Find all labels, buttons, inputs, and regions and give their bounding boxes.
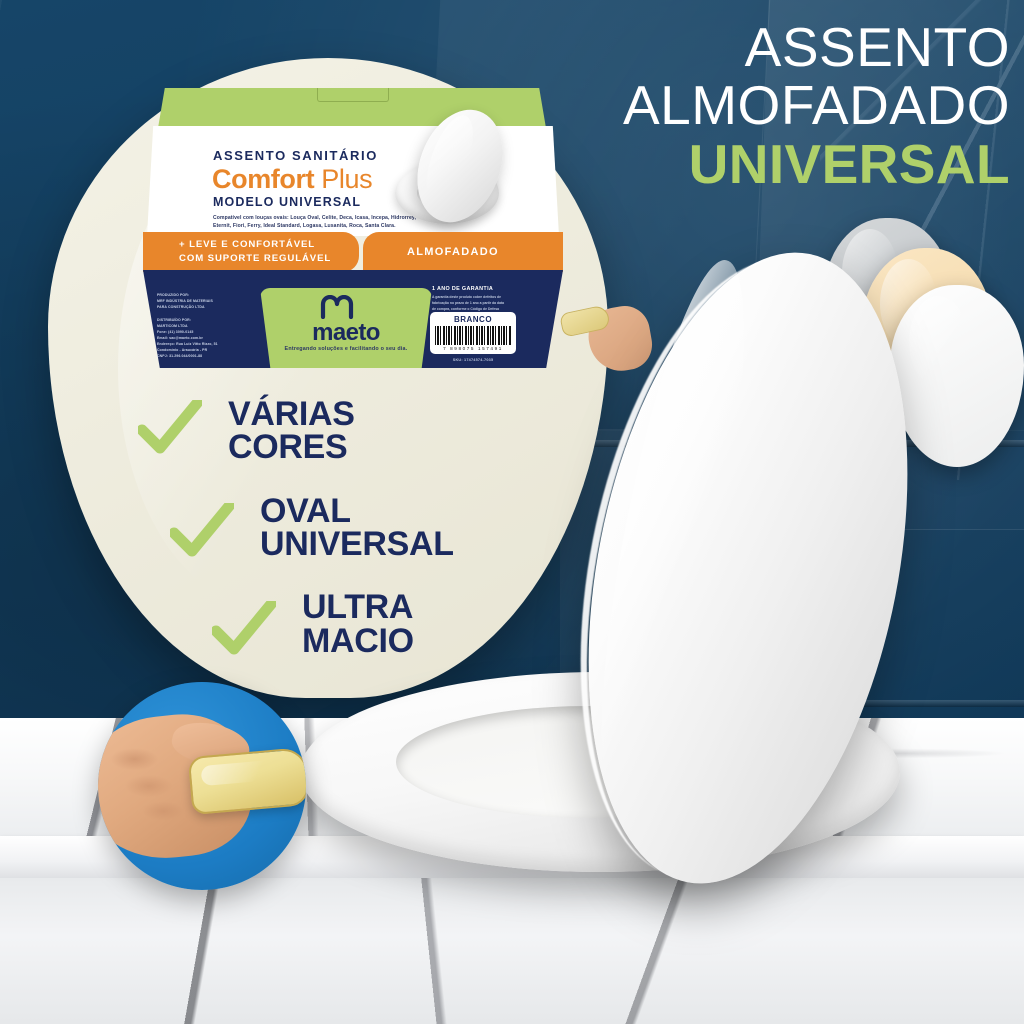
- headline-block: ASSENTO ALMOFADADO UNIVERSAL: [623, 18, 1010, 194]
- feature-line-1: VÁRIAS: [228, 398, 518, 431]
- label-brand-name: Comfort Plus: [212, 164, 372, 195]
- feature-item-oval-universal: OVAL UNIVERSAL: [138, 495, 518, 562]
- checkmark-icon: [212, 601, 276, 657]
- foam-padding-sample: [188, 747, 306, 815]
- feature-line-2: UNIVERSAL: [260, 528, 518, 561]
- counter-front-face: [0, 878, 1024, 1024]
- feature-item-varias-cores: VÁRIAS CORES: [138, 398, 518, 465]
- feature-line-2: CORES: [228, 431, 518, 464]
- label-sku-text: SKU: 17474574-7035: [430, 358, 516, 362]
- label-banner-left-text: + LEVE E CONFORTÁVEL COM SUPORTE REGULÁV…: [179, 238, 331, 266]
- feature-list: VÁRIAS CORES OVAL UNIVERSAL ULTR: [138, 398, 518, 688]
- barcode-bars: [435, 326, 511, 345]
- headline-line-1: ASSENTO: [623, 18, 1010, 76]
- label-kicker-text: ASSENTO SANITÁRIO: [213, 148, 378, 163]
- feature-line-1: OVAL: [260, 495, 518, 528]
- label-manufacturer-address: PRODUZIDO POR: MRF INDÚSTRIA DE MATERIAI…: [157, 292, 233, 359]
- feature-text: VÁRIAS CORES: [228, 398, 518, 465]
- checkmark-icon: [170, 503, 234, 559]
- label-warranty-title: 1 ANO DE GARANTIA: [432, 286, 493, 292]
- brand-bold-part: Comfort: [212, 164, 314, 194]
- maeto-logo-mark: [315, 295, 377, 319]
- label-model-text: MODELO UNIVERSAL: [213, 195, 361, 209]
- checkmark-icon: [138, 400, 202, 456]
- brand-light-part: Plus: [314, 164, 372, 194]
- feature-line-2: MACIO: [302, 625, 518, 658]
- barcode-digits: 7 898075 157491: [435, 346, 511, 351]
- headline-line-2: ALMOFADADO: [623, 76, 1010, 134]
- package-label: ASSENTO SANITÁRIO Comfort Plus MODELO UN…: [135, 88, 570, 368]
- headline-line-3: UNIVERSAL: [623, 135, 1010, 194]
- label-color-name: BRANCO: [435, 315, 511, 324]
- label-hang-tab: [317, 88, 389, 102]
- feature-line-1: ULTRA: [302, 591, 518, 624]
- maeto-tagline: Entregando soluções e facilitando o seu …: [266, 346, 426, 352]
- label-banner-right-text: ALMOFADADO: [407, 246, 499, 258]
- label-barcode-card: BRANCO 7 898075 157491: [430, 312, 516, 354]
- advertisement-canvas: ASSENTO ALMOFADADO UNIVERSAL ASSENTO SAN…: [0, 0, 1024, 1024]
- feature-text: OVAL UNIVERSAL: [260, 495, 518, 562]
- feature-text: ULTRA MACIO: [302, 591, 518, 658]
- label-hand-illustration: [563, 293, 649, 373]
- label-compatibility-text: Compatível com louças ovais: Louça Oval,…: [213, 214, 418, 231]
- maeto-wordmark: maeto: [281, 319, 411, 347]
- foam-demo-inset: [98, 682, 306, 890]
- feature-item-ultra-macio: ULTRA MACIO: [138, 591, 518, 658]
- label-product-illustration: [393, 104, 543, 234]
